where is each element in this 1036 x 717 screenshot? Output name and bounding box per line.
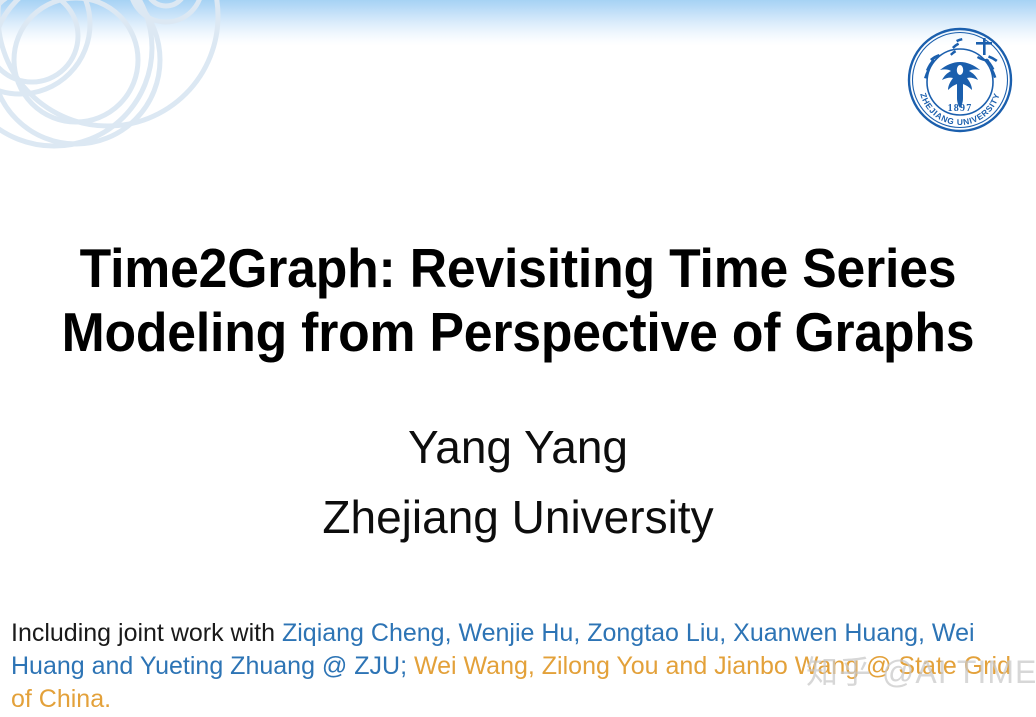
author-affiliation: Zhejiang University <box>0 482 1036 552</box>
slide-title: Time2Graph: Revisiting Time Series Model… <box>0 236 1036 364</box>
credits-intro: Including joint work with <box>11 619 282 647</box>
title-line-1: Time2Graph: Revisiting Time Series <box>31 236 1005 300</box>
acknowledgement-credits: Including joint work with Ziqiang Cheng,… <box>11 617 1023 716</box>
slide-subtitle: Yang Yang Zhejiang University <box>0 412 1036 552</box>
zhejiang-university-logo-icon: 1897 ZHEJIANG UNIVERSITY <box>906 26 1014 134</box>
title-line-2: Modeling from Perspective of Graphs <box>31 300 1005 364</box>
credits-separator <box>407 652 414 680</box>
author-name: Yang Yang <box>0 412 1036 482</box>
svg-text:1897: 1897 <box>948 103 973 114</box>
corner-rings-decoration <box>0 0 288 194</box>
title-slide: 1897 ZHEJIANG UNIVERSITY Time2Graph: Rev… <box>0 0 1036 717</box>
top-gradient-band <box>0 0 1036 46</box>
